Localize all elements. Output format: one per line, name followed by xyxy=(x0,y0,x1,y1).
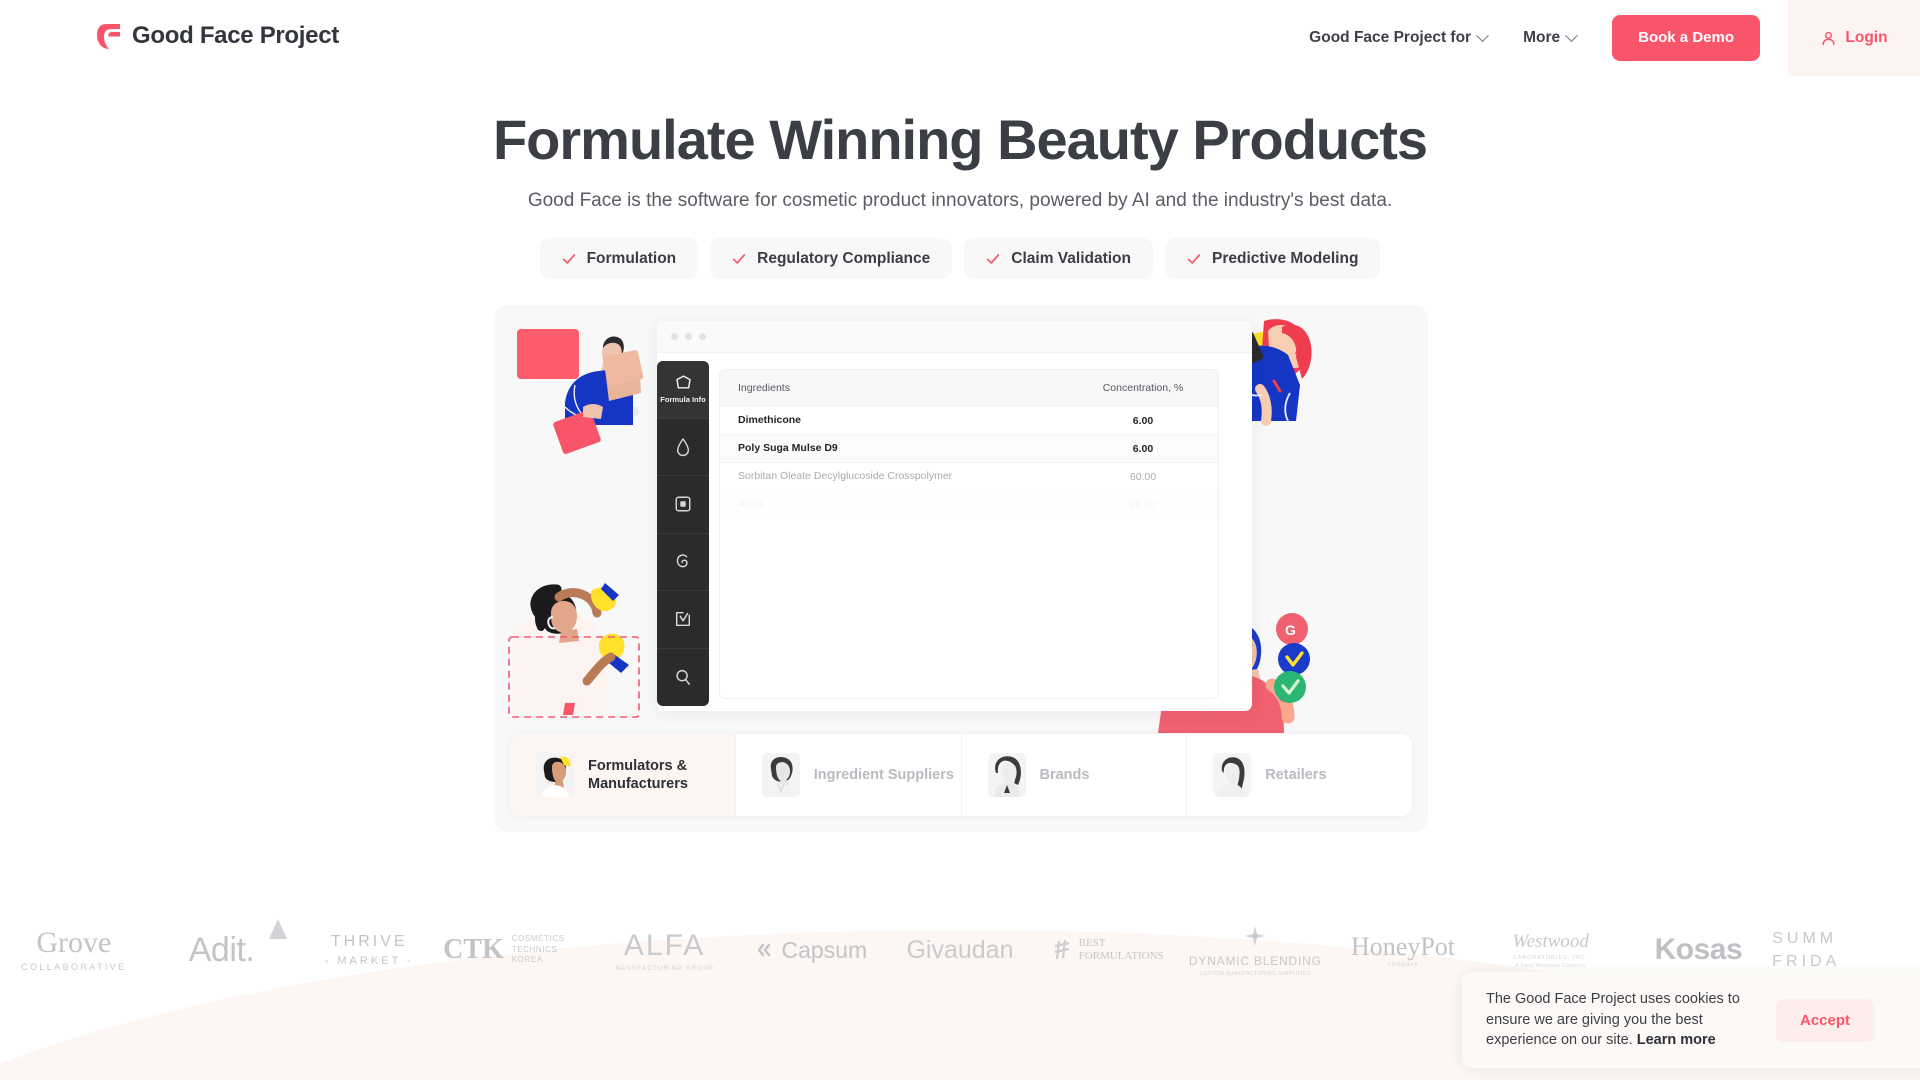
logo-line-2: COLLABORATIVE xyxy=(21,962,127,972)
app-sidebar: Formula Info xyxy=(657,361,709,706)
column-header-ingredients: Ingredients xyxy=(720,382,1068,394)
chevron-down-icon xyxy=(1565,29,1578,42)
adit-triangle-icon xyxy=(269,919,287,939)
supplier-avatar xyxy=(762,753,800,797)
sidebar-item-formula-info[interactable]: Formula Info xyxy=(657,361,709,419)
page-subtitle: Good Face is the software for cosmetic p… xyxy=(0,190,1920,212)
page-title: Formulate Winning Beauty Products xyxy=(0,107,1920,172)
feature-pill-label: Regulatory Compliance xyxy=(757,250,930,268)
logo-line-1: Givaudan xyxy=(906,936,1013,965)
cookie-learn-more-link[interactable]: Learn more xyxy=(1637,1032,1716,1048)
formulator-avatar xyxy=(536,753,574,797)
persona-tab-retailers[interactable]: Retailers xyxy=(1187,734,1412,816)
logo-line-1: SUMM xyxy=(1772,927,1837,950)
hero-showcase-panel: INCI G xyxy=(494,305,1428,832)
logo-line-1: CTK xyxy=(443,934,504,966)
sidebar-item-spiral[interactable] xyxy=(657,534,709,592)
product-app-window: Formula Info xyxy=(657,321,1252,711)
table-header-row: Ingredients Concentration, % xyxy=(720,370,1218,406)
client-logo-westwood-laboratories: Westwood LABORATORIES, INC. A Sarvi Phar… xyxy=(1477,931,1625,969)
cell-concentration: 6.00 xyxy=(1068,443,1218,455)
brand-logo[interactable]: Good Face Project xyxy=(96,22,339,50)
feature-pill-claim-validation[interactable]: Claim Validation xyxy=(964,238,1153,279)
brand-name: Good Face Project xyxy=(132,22,339,50)
cell-ingredient: Dimethicone xyxy=(720,408,1068,433)
feature-pill-label: Predictive Modeling xyxy=(1212,250,1358,268)
cell-ingredient: Aqua xyxy=(720,492,1068,517)
nav-label: More xyxy=(1523,29,1560,47)
logo-line-1: THRIVE xyxy=(331,933,408,951)
logo-line-1: ALFA xyxy=(624,929,705,963)
square-icon xyxy=(674,495,692,513)
dynamic-blending-mark-icon xyxy=(1242,924,1268,950)
svg-text:G: G xyxy=(1285,622,1296,638)
logo-line-1: DYNAMIC BLENDING xyxy=(1189,954,1322,968)
client-logo-kosas: Kosas xyxy=(1625,933,1773,967)
logo-line-1: BEST xyxy=(1079,937,1106,950)
cookie-consent-banner: The Good Face Project uses cookies to en… xyxy=(1462,972,1920,1068)
window-dot xyxy=(699,333,706,340)
login-label: Login xyxy=(1845,29,1887,47)
cookie-accept-button[interactable]: Accept xyxy=(1776,999,1874,1042)
cookie-banner-text: The Good Face Project uses cookies to en… xyxy=(1486,989,1754,1051)
check-icon xyxy=(732,252,746,266)
retailer-avatar xyxy=(1213,753,1251,797)
table-row[interactable]: Poly Suga Mulse D9 6.00 xyxy=(720,434,1218,462)
cell-ingredient: Sorbitan Oleate Decylglucoside Crosspoly… xyxy=(720,464,1068,489)
site-header: Good Face Project Good Face Project for … xyxy=(0,0,1920,76)
logo-line-1: Capsum xyxy=(781,937,867,964)
client-logo-best-formulations: BEST FORMULATIONS xyxy=(1034,937,1182,962)
column-header-concentration: Concentration, % xyxy=(1068,382,1218,394)
client-logo-honey-pot: HoneyPot company xyxy=(1329,932,1477,968)
table-row[interactable]: Dimethicone 6.00 xyxy=(720,406,1218,434)
logo-line-2: COSMETICS TECHNICS KOREA xyxy=(512,934,591,966)
client-logo-summer-fridays: SUMM FRIDA xyxy=(1772,927,1920,973)
client-logo-capsum: Capsum xyxy=(738,937,886,964)
sidebar-item-checkbox-chart[interactable] xyxy=(657,591,709,649)
illustration-lab-woman xyxy=(503,573,651,723)
logo-line-2: - MARKET - xyxy=(325,955,414,967)
client-logo-dynamic-blending: DYNAMIC BLENDING CUSTOM MANUFACTURING SI… xyxy=(1182,924,1330,977)
check-icon xyxy=(562,252,576,266)
logo-line-1: HoneyPot xyxy=(1351,932,1455,962)
cell-concentration: 60.00 xyxy=(1068,471,1218,483)
persona-tab-ingredient-suppliers[interactable]: Ingredient Suppliers xyxy=(736,734,962,816)
window-dot xyxy=(671,333,678,340)
client-logo-grove-collaborative: Grove COLLABORATIVE xyxy=(0,928,148,972)
feature-pill-formulation[interactable]: Formulation xyxy=(540,238,699,279)
client-logo-givaudan: Givaudan xyxy=(886,936,1034,965)
chevron-down-icon xyxy=(1476,29,1489,42)
check-icon xyxy=(986,252,1000,266)
logo-line-2: MANUFACTURING GROUP xyxy=(615,966,714,972)
feature-pill-regulatory-compliance[interactable]: Regulatory Compliance xyxy=(710,238,952,279)
feature-pill-predictive-modeling[interactable]: Predictive Modeling xyxy=(1165,238,1380,279)
logo-line-2: FORMULATIONS xyxy=(1079,950,1164,963)
client-logo-ctk: CTK COSMETICS TECHNICS KOREA xyxy=(443,934,591,966)
table-row[interactable]: Sorbitan Oleate Decylglucoside Crosspoly… xyxy=(720,462,1218,490)
sidebar-item-label: Formula Info xyxy=(660,396,705,405)
cell-ingredient: Poly Suga Mulse D9 xyxy=(720,436,1068,461)
page-root: Good Face Project Good Face Project for … xyxy=(0,0,1920,1080)
login-button[interactable]: Login xyxy=(1788,0,1920,76)
feature-pill-label: Formulation xyxy=(587,250,677,268)
logo-line-2: FRIDA xyxy=(1772,950,1840,973)
user-icon xyxy=(1820,30,1837,47)
ingredients-table: Ingredients Concentration, % Dimethicone… xyxy=(719,369,1219,699)
sidebar-item-droplet[interactable] xyxy=(657,419,709,477)
check-icon xyxy=(1187,252,1201,266)
table-fade-overlay xyxy=(720,548,1218,698)
persona-label: Formulators & Manufacturers xyxy=(588,757,735,793)
logo-line-3: A Sarvi Pharmma Company xyxy=(1515,963,1586,969)
best-formulations-mark-icon xyxy=(1052,939,1072,961)
cell-concentration: 28.00 xyxy=(1068,499,1218,511)
logo-line-2: CUSTOM MANUFACTURING SIMPLIFIED xyxy=(1200,971,1311,977)
sidebar-item-square[interactable] xyxy=(657,476,709,534)
persona-tab-bar: Formulators & Manufacturers Ingredient S… xyxy=(510,734,1412,816)
feature-pill-row: Formulation Regulatory Compliance Claim … xyxy=(0,238,1920,279)
formula-shield-icon xyxy=(674,374,693,393)
feature-pill-label: Claim Validation xyxy=(1011,250,1131,268)
window-titlebar xyxy=(657,321,1252,353)
nav-item-good-face-project-for[interactable]: Good Face Project for xyxy=(1309,29,1487,47)
client-logo-adit: Adit. xyxy=(148,931,296,970)
client-logo-alfa: ALFA MANUFACTURING GROUP xyxy=(591,929,739,972)
persona-tab-brands[interactable]: Brands xyxy=(962,734,1188,816)
persona-label: Retailers xyxy=(1265,766,1326,784)
book-a-demo-button[interactable]: Book a Demo xyxy=(1612,15,1760,61)
brand-avatar xyxy=(988,753,1026,797)
persona-label: Ingredient Suppliers xyxy=(814,766,954,784)
droplet-icon xyxy=(675,437,691,457)
sidebar-item-search[interactable] xyxy=(657,649,709,707)
logo-line-1: Grove xyxy=(36,928,111,958)
persona-label: Brands xyxy=(1040,766,1090,784)
nav-item-more[interactable]: More xyxy=(1523,29,1576,47)
logo-line-1: Adit. xyxy=(189,931,255,970)
logo-line-1: Westwood xyxy=(1513,931,1589,953)
logo-line-2: LABORATORIES, INC. xyxy=(1514,955,1588,961)
checkbox-chart-icon xyxy=(674,610,692,628)
cell-concentration: 6.00 xyxy=(1068,415,1218,427)
table-row[interactable]: Aqua 28.00 xyxy=(720,490,1218,518)
client-logo-thrive-market: THRIVE - MARKET - xyxy=(295,933,443,967)
nav-label: Good Face Project for xyxy=(1309,29,1471,47)
search-icon xyxy=(674,668,692,686)
header-nav: Good Face Project for More Book a Demo L… xyxy=(1309,0,1920,76)
logo-line-1: Kosas xyxy=(1655,933,1743,967)
good-face-logo-icon xyxy=(96,22,122,50)
logo-line-2: company xyxy=(1387,962,1418,968)
spiral-icon xyxy=(674,552,692,572)
window-dot xyxy=(685,333,692,340)
illustration-formulator-man xyxy=(503,315,651,463)
capsum-mark-icon xyxy=(757,942,773,958)
persona-tab-formulators-manufacturers[interactable]: Formulators & Manufacturers xyxy=(510,734,736,816)
